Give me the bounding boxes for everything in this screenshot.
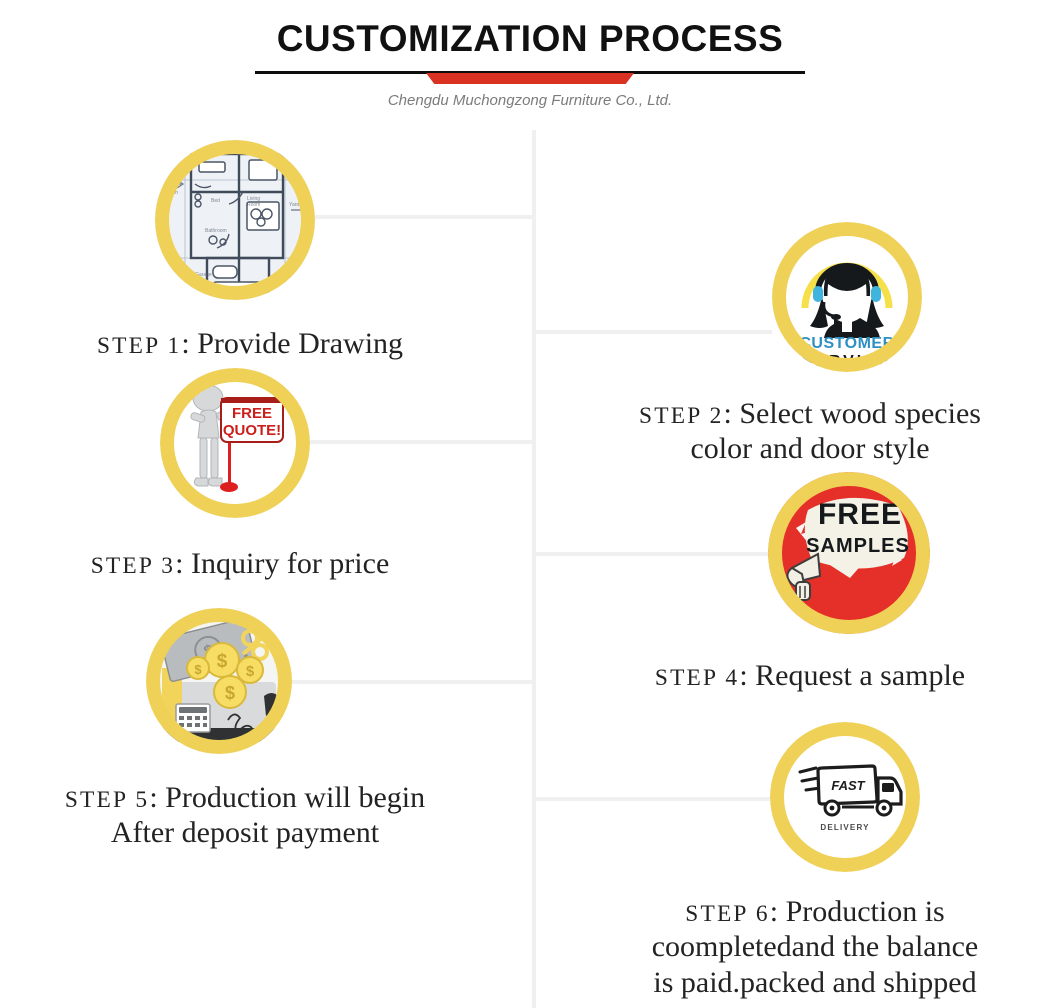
svg-text:$: $ <box>225 683 235 703</box>
svg-text:Yard: Yard <box>289 202 299 208</box>
svg-text:CUSTOMER: CUSTOMER <box>799 335 894 352</box>
svg-text:Porch: Porch <box>165 190 178 196</box>
step-1-text: Provide Drawing <box>197 327 403 360</box>
step-3-text: Inquiry for price <box>191 547 389 580</box>
step-2-label: STEP 2 <box>639 403 723 429</box>
svg-text:$: $ <box>194 662 202 677</box>
page-title: CUSTOMIZATION PROCESS <box>0 18 1060 60</box>
step-4-icon-circle: FREE SAMPLES <box>768 472 930 634</box>
step-1: Bed Living Room Bathroom Garage Porch Ya… <box>0 140 500 361</box>
customization-process-infographic: CUSTOMIZATION PROCESS Chengdu Muchongzon… <box>0 0 1060 1008</box>
svg-text:$: $ <box>246 663 255 680</box>
fast-delivery-truck-icon: FAST DELIVERY <box>770 722 920 872</box>
svg-text:FREE: FREE <box>818 498 902 531</box>
step-1-icon-circle: Bed Living Room Bathroom Garage Porch Ya… <box>155 140 315 300</box>
step-3-icon-circle: FREE QUOTE! <box>160 368 310 518</box>
svg-text:FAST: FAST <box>831 778 865 793</box>
step-6-icon-circle: FAST DELIVERY <box>770 722 920 872</box>
free-quote-sign-icon: FREE QUOTE! <box>160 368 310 518</box>
step-3: FREE QUOTE! STEP 3: Inquiry for price <box>0 368 480 581</box>
step-5-separator: : <box>149 781 157 814</box>
step-2-icon-circle: CUSTOMER SERVICE <box>772 222 922 372</box>
step-2-caption: STEP 2: Select wood species color and do… <box>560 396 1060 467</box>
svg-text:$: $ <box>217 651 228 672</box>
svg-text:Room: Room <box>247 202 260 208</box>
svg-text:SERVICE: SERVICE <box>802 353 893 370</box>
free-samples-megaphone-icon: FREE SAMPLES <box>768 472 930 634</box>
step-6-separator: : <box>770 895 778 928</box>
step-3-label: STEP 3 <box>91 553 175 579</box>
svg-text:DELIVERY: DELIVERY <box>820 823 869 832</box>
step-5-text: Production will begin After deposit paym… <box>111 781 425 849</box>
svg-text:QUOTE!: QUOTE! <box>223 422 281 439</box>
step-4-text: Request a sample <box>755 659 965 692</box>
customer-service-headset-icon: CUSTOMER SERVICE <box>772 222 922 372</box>
step-2-separator: : <box>724 397 732 430</box>
step-4-caption: STEP 4: Request a sample <box>570 658 1050 693</box>
company-subtitle: Chengdu Muchongzong Furniture Co., Ltd. <box>0 92 1060 109</box>
svg-text:Bathroom: Bathroom <box>205 228 227 234</box>
step-2: CUSTOMER SERVICE STEP 2: Select wood spe… <box>560 222 1060 467</box>
step-4-label: STEP 4 <box>655 665 739 691</box>
step-5-label: STEP 5 <box>65 787 149 813</box>
step-5-caption: STEP 5: Production will begin After depo… <box>0 780 490 851</box>
step-4-separator: : <box>739 659 747 692</box>
svg-text:SAMPLES: SAMPLES <box>806 535 910 557</box>
step-3-caption: STEP 3: Inquiry for price <box>0 546 480 581</box>
title-divider <box>255 62 805 84</box>
step-6-label: STEP 6 <box>685 901 769 927</box>
step-1-label: STEP 1 <box>97 333 181 359</box>
step-5: $ $ $ $ <box>0 608 490 851</box>
floorplan-drawing-icon: Bed Living Room Bathroom Garage Porch Ya… <box>155 140 315 300</box>
connector-spine <box>532 130 536 1008</box>
step-3-separator: : <box>175 547 183 580</box>
divider-accent-bar <box>426 73 634 84</box>
svg-text:FREE: FREE <box>232 405 272 422</box>
step-2-text: Select wood species color and door style <box>690 397 981 465</box>
step-6: FAST DELIVERY STEP 6: Production is coom… <box>570 722 1060 1000</box>
svg-text:Garage: Garage <box>195 272 212 278</box>
svg-text:Bed: Bed <box>211 198 220 204</box>
step-5-icon-circle: $ $ $ $ <box>146 608 292 754</box>
step-4: FREE SAMPLES STEP 4: Request a sample <box>570 472 1050 693</box>
step-1-separator: : <box>181 327 189 360</box>
money-payment-icon: $ $ $ $ <box>146 608 292 754</box>
step-6-caption: STEP 6: Production is coompletedand the … <box>570 894 1060 1000</box>
header: CUSTOMIZATION PROCESS Chengdu Muchongzon… <box>0 0 1060 130</box>
step-1-caption: STEP 1: Provide Drawing <box>0 326 500 361</box>
